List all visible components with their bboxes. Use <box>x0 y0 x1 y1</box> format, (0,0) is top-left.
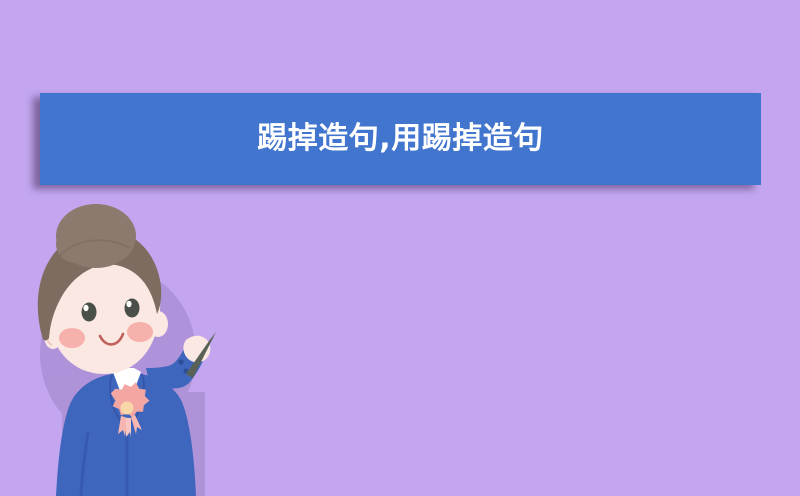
cuff-button-upper <box>178 359 183 364</box>
eye-right-highlight <box>126 301 131 307</box>
page-root: 踢掉造句,用踢掉造句 <box>0 0 800 496</box>
eye-left <box>82 303 97 322</box>
eye-left-highlight <box>83 305 88 311</box>
cheek-right <box>127 322 153 342</box>
badge-center <box>121 402 134 415</box>
title-banner: 踢掉造句,用踢掉造句 <box>40 93 761 185</box>
eye-right <box>125 299 140 318</box>
page-title: 踢掉造句,用踢掉造句 <box>257 124 543 154</box>
teacher-illustration <box>0 196 280 496</box>
cheek-left <box>59 328 85 348</box>
